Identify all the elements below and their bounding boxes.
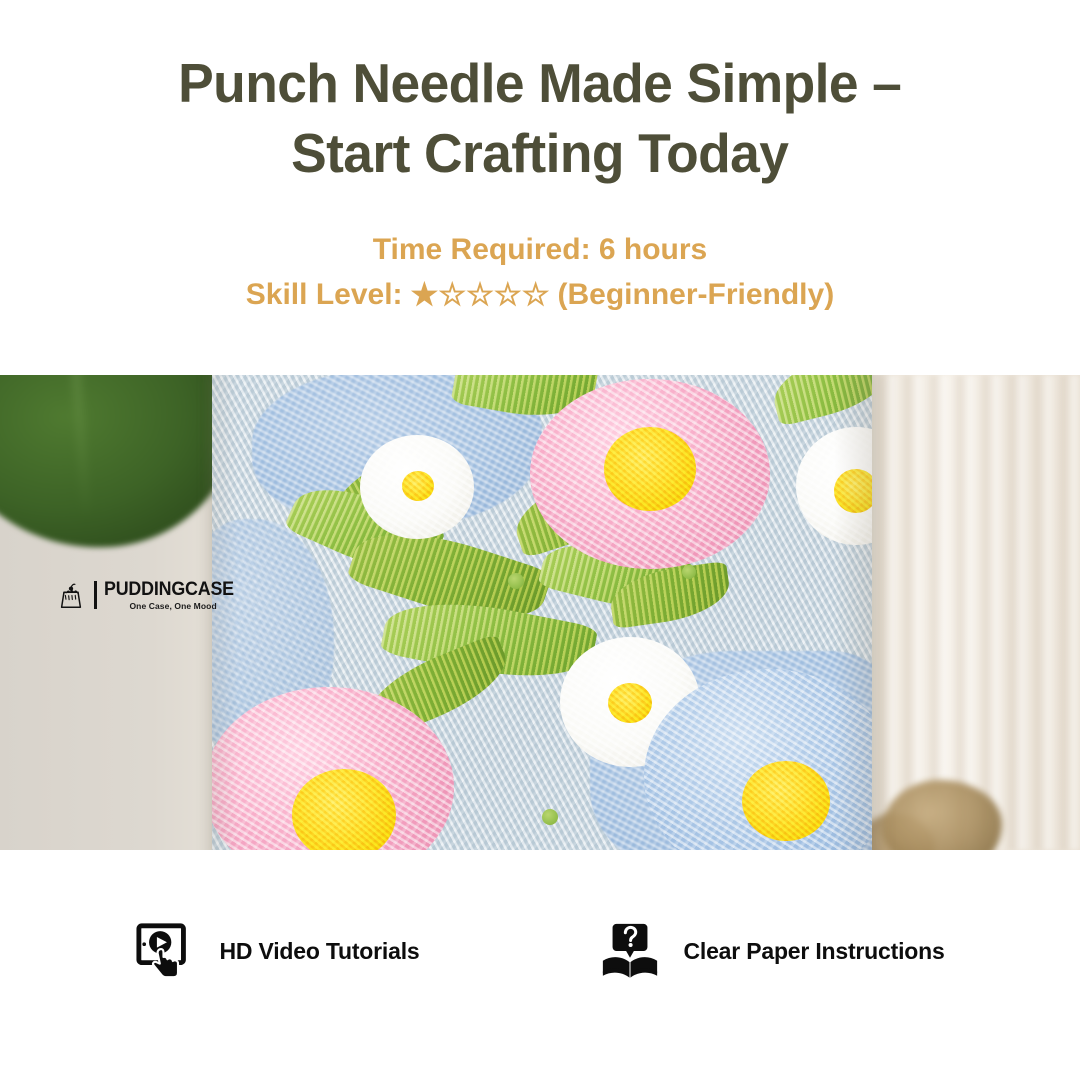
skill-level-row: Skill Level: ★☆☆☆☆ (Beginner-Friendly): [246, 274, 834, 315]
watermark-divider: [94, 581, 97, 609]
flower-white-right: [796, 427, 872, 545]
pudding-icon: [55, 580, 87, 610]
star-empty-icon: ☆: [522, 279, 550, 310]
star-empty-icon: ☆: [438, 279, 466, 310]
watermark-text: PUDDINGCASE One Case, One Mood: [104, 580, 242, 611]
flower-center: [834, 469, 872, 513]
flower-center: [608, 683, 652, 723]
bud-lower: [542, 809, 558, 825]
watermark-logo: PUDDINGCASE One Case, One Mood: [55, 580, 242, 611]
feature-label: Clear Paper Instructions: [683, 938, 944, 965]
flower-center: [604, 427, 696, 511]
bud-right: [682, 565, 696, 579]
feature-paper-instructions[interactable]: Clear Paper Instructions: [599, 920, 944, 982]
flower-white-upper: [360, 435, 474, 539]
flower-center: [742, 761, 830, 841]
bud-center: [508, 573, 524, 589]
feature-row: HD Video Tutorials Clear Paper Instructi…: [0, 850, 1080, 1080]
skill-level-suffix: (Beginner-Friendly): [558, 274, 835, 315]
curtain-stripes: [865, 375, 1080, 850]
title-line-2: Start Crafting Today: [178, 118, 901, 188]
poster: Punch Needle Made Simple – Start Craftin…: [0, 0, 1080, 1080]
video-tablet-icon: [135, 920, 197, 982]
punch-needle-panel: [212, 375, 872, 850]
watermark-brand: PUDDINGCASE: [104, 580, 234, 599]
page-title: Punch Needle Made Simple – Start Craftin…: [178, 48, 901, 189]
skill-level-prefix: Skill Level:: [246, 274, 403, 315]
feature-hd-video[interactable]: HD Video Tutorials: [135, 920, 419, 982]
title-line-1: Punch Needle Made Simple –: [178, 48, 901, 118]
star-empty-icon: ☆: [494, 279, 522, 310]
flower-pink-top: [530, 379, 770, 569]
poster-header: Punch Needle Made Simple – Start Craftin…: [0, 0, 1080, 375]
star-rating: ★☆☆☆☆: [411, 279, 550, 310]
star-empty-icon: ☆: [466, 279, 494, 310]
star-filled-icon: ★: [411, 279, 439, 310]
watermark-tagline: One Case, One Mood: [104, 602, 242, 611]
meta-block: Time Required: 6 hours Skill Level: ★☆☆☆…: [246, 229, 834, 316]
feature-label: HD Video Tutorials: [219, 938, 419, 965]
product-photo: PUDDINGCASE One Case, One Mood: [0, 375, 1080, 850]
flower-center: [402, 471, 434, 501]
book-question-icon: [599, 920, 661, 982]
time-required-label: Time Required: 6 hours: [246, 229, 834, 270]
leaf-top-right: [767, 375, 872, 427]
